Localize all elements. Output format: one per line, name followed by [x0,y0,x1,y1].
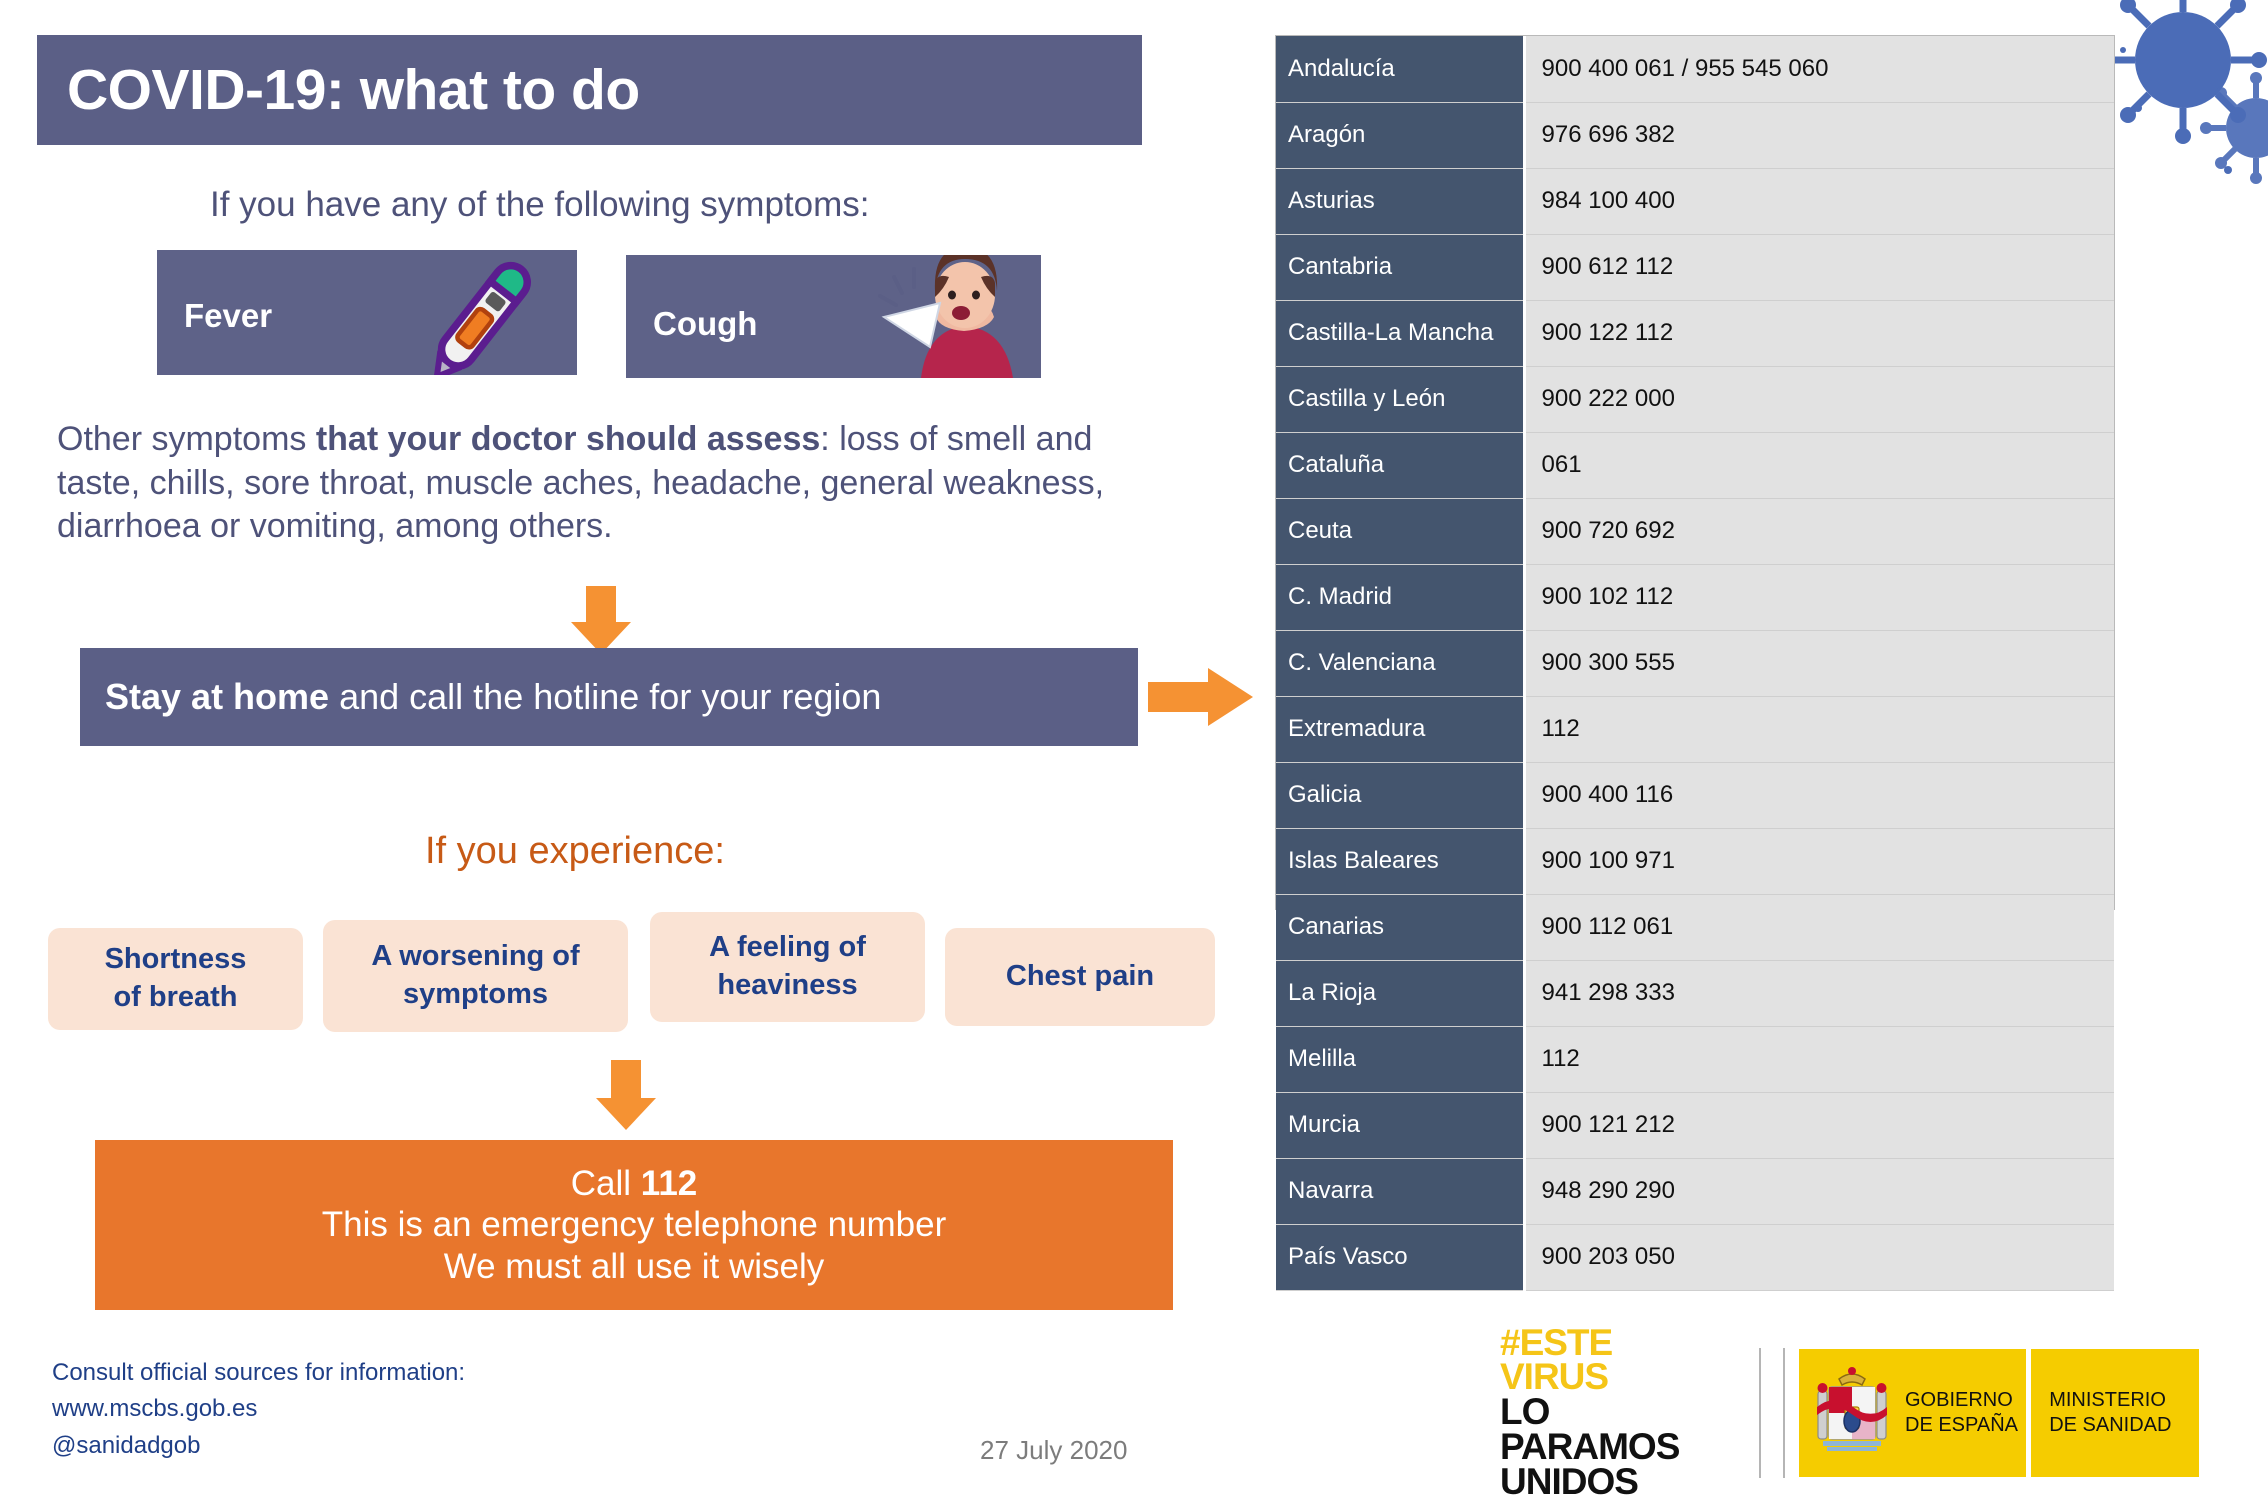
region-name-cell: Murcia [1276,1092,1524,1158]
emergency-call-line: Call 112 [571,1163,698,1204]
region-phone-cell: 112 [1524,1026,2114,1092]
table-row: La Rioja941 298 333 [1276,960,2114,1026]
slogan-line-2: VIRUS [1500,1360,1745,1395]
warning-sign-label-1: A worsening of symptoms [371,938,579,1013]
slogan-line-1: #ESTE [1500,1326,1745,1361]
regional-hotline-table-container[interactable]: Andalucía900 400 061 / 955 545 060Aragón… [1275,35,2115,910]
branding-footer: #ESTE VIRUS LO PARAMOS UNIDOS [1500,1330,2260,1495]
page-title: COVID-19: what to do [37,57,640,123]
emergency-call-prefix: Call [571,1164,641,1203]
spain-coat-of-arms-icon [1809,1361,1895,1465]
experience-heading: If you experience: [425,830,725,873]
regional-hotline-table: Andalucía900 400 061 / 955 545 060Aragón… [1276,36,2114,1291]
stay-home-rest: and call the hotline for your region [329,676,881,717]
region-name-cell: Cantabria [1276,234,1524,300]
right-arrow-icon-to-table [1148,668,1253,726]
region-phone-cell: 900 222 000 [1524,366,2114,432]
region-name-cell: Islas Baleares [1276,828,1524,894]
other-symptoms-prefix: Other symptoms [57,420,316,458]
warning-sign-label-0: Shortness of breath [105,941,247,1016]
table-row: Islas Baleares900 100 971 [1276,828,2114,894]
government-logo: GOBIERNO DE ESPAÑA MINISTERIO DE SANIDAD [1799,1349,2199,1477]
warning-sign-card-3: Chest pain [945,928,1215,1026]
emergency-line-2: This is an emergency telephone number [322,1204,947,1245]
region-phone-cell: 900 300 555 [1524,630,2114,696]
campaign-slogan: #ESTE VIRUS LO PARAMOS UNIDOS [1500,1326,1745,1500]
infographic-slide: COVID-19: what to do If you have any of … [0,0,2268,1512]
ministerio-label: MINISTERIO DE SANIDAD [2049,1388,2171,1438]
table-row: País Vasco900 203 050 [1276,1224,2114,1290]
footer-sources: Consult official sources for information… [52,1355,465,1464]
warning-sign-card-1: A worsening of symptoms [323,920,628,1032]
table-row: Galicia900 400 116 [1276,762,2114,828]
region-name-cell: Aragón [1276,102,1524,168]
region-name-cell: Galicia [1276,762,1524,828]
region-name-cell: Navarra [1276,1158,1524,1224]
title-banner: COVID-19: what to do [37,35,1142,145]
region-phone-cell: 900 112 061 [1524,894,2114,960]
emergency-banner: Call 112 This is an emergency telephone … [95,1140,1173,1310]
region-phone-cell: 900 720 692 [1524,498,2114,564]
region-phone-cell: 900 612 112 [1524,234,2114,300]
gobierno-label: GOBIERNO DE ESPAÑA [1905,1388,2018,1438]
region-phone-cell: 900 122 112 [1524,300,2114,366]
symptom-label-fever: Fever [157,297,272,335]
region-phone-cell: 984 100 400 [1524,168,2114,234]
region-phone-cell: 941 298 333 [1524,960,2114,1026]
date-stamp: 27 July 2020 [980,1435,1127,1466]
region-name-cell: País Vasco [1276,1224,1524,1290]
slogan-line-4: PARAMOS [1500,1430,1745,1465]
slogan-line-3: LO [1500,1395,1745,1430]
thermometer-icon [405,250,555,375]
emergency-line-3: We must all use it wisely [444,1246,825,1287]
footer-website[interactable]: www.mscbs.gob.es [52,1391,465,1427]
region-phone-cell: 976 696 382 [1524,102,2114,168]
table-row: Murcia900 121 212 [1276,1092,2114,1158]
region-name-cell: Extremadura [1276,696,1524,762]
table-row: Navarra948 290 290 [1276,1158,2114,1224]
other-symptoms-bold: that your doctor should assess [316,420,820,458]
region-name-cell: C. Valenciana [1276,630,1524,696]
region-phone-cell: 900 100 971 [1524,828,2114,894]
gobierno-de-espana-block: GOBIERNO DE ESPAÑA [1799,1349,2026,1477]
coughing-person-icon [866,255,1041,378]
region-phone-cell: 900 400 116 [1524,762,2114,828]
region-name-cell: Castilla y León [1276,366,1524,432]
other-symptoms-paragraph: Other symptoms that your doctor should a… [57,418,1177,549]
intro-text: If you have any of the following symptom… [210,185,870,225]
table-row: Canarias900 112 061 [1276,894,2114,960]
region-name-cell: Cataluña [1276,432,1524,498]
region-name-cell: Canarias [1276,894,1524,960]
warning-sign-card-0: Shortness of breath [48,928,303,1030]
table-row: C. Madrid900 102 112 [1276,564,2114,630]
table-row: C. Valenciana900 300 555 [1276,630,2114,696]
region-name-cell: La Rioja [1276,960,1524,1026]
table-row: Aragón976 696 382 [1276,102,2114,168]
table-row: Andalucía900 400 061 / 955 545 060 [1276,36,2114,102]
gob-line-2: DE ESPAÑA [1905,1414,2018,1436]
ministerio-de-sanidad-block: MINISTERIO DE SANIDAD [2026,1349,2199,1477]
region-phone-cell: 900 121 212 [1524,1092,2114,1158]
ministerio-line-2: DE SANIDAD [2049,1414,2171,1436]
experience-text: If you experience [425,830,714,872]
region-phone-cell: 112 [1524,696,2114,762]
stay-home-banner: Stay at home and call the hotline for yo… [80,648,1138,746]
region-name-cell: Castilla-La Mancha [1276,300,1524,366]
left-content-column: COVID-19: what to do If you have any of … [0,0,1250,1512]
experience-colon: : [714,830,725,872]
table-row: Melilla112 [1276,1026,2114,1092]
ministerio-line-1: MINISTERIO [2049,1389,2166,1411]
table-row: Ceuta900 720 692 [1276,498,2114,564]
vertical-divider [1759,1348,1785,1478]
region-phone-cell: 900 400 061 / 955 545 060 [1524,36,2114,102]
warning-sign-label-3: Chest pain [1006,958,1154,996]
down-arrow-icon-1 [570,586,632,654]
down-arrow-icon-2 [595,1060,657,1132]
region-phone-cell: 900 203 050 [1524,1224,2114,1290]
region-name-cell: Asturias [1276,168,1524,234]
region-phone-cell: 948 290 290 [1524,1158,2114,1224]
table-row: Castilla y León900 222 000 [1276,366,2114,432]
symptom-card-fever: Fever [157,250,577,375]
emergency-number: 112 [641,1164,697,1203]
region-name-cell: C. Madrid [1276,564,1524,630]
region-name-cell: Andalucía [1276,36,1524,102]
footer-consult-label: Consult official sources for information… [52,1355,465,1391]
footer-social-handle[interactable]: @sanidadgob [52,1428,465,1464]
table-row: Castilla-La Mancha900 122 112 [1276,300,2114,366]
table-row: Cataluña061 [1276,432,2114,498]
table-row: Asturias984 100 400 [1276,168,2114,234]
warning-sign-label-2: A feeling of heaviness [709,929,866,1004]
region-name-cell: Ceuta [1276,498,1524,564]
table-row: Cantabria900 612 112 [1276,234,2114,300]
warning-sign-card-2: A feeling of heaviness [650,912,925,1022]
table-row: Extremadura112 [1276,696,2114,762]
region-phone-cell: 900 102 112 [1524,564,2114,630]
slogan-line-5: UNIDOS [1500,1465,1745,1500]
stay-home-text: Stay at home and call the hotline for yo… [80,676,881,718]
region-phone-cell: 061 [1524,432,2114,498]
stay-home-bold: Stay at home [105,676,329,717]
symptom-label-cough: Cough [626,305,757,343]
gob-line-1: GOBIERNO [1905,1389,2013,1411]
symptom-card-cough: Cough [626,255,1041,378]
region-name-cell: Melilla [1276,1026,1524,1092]
